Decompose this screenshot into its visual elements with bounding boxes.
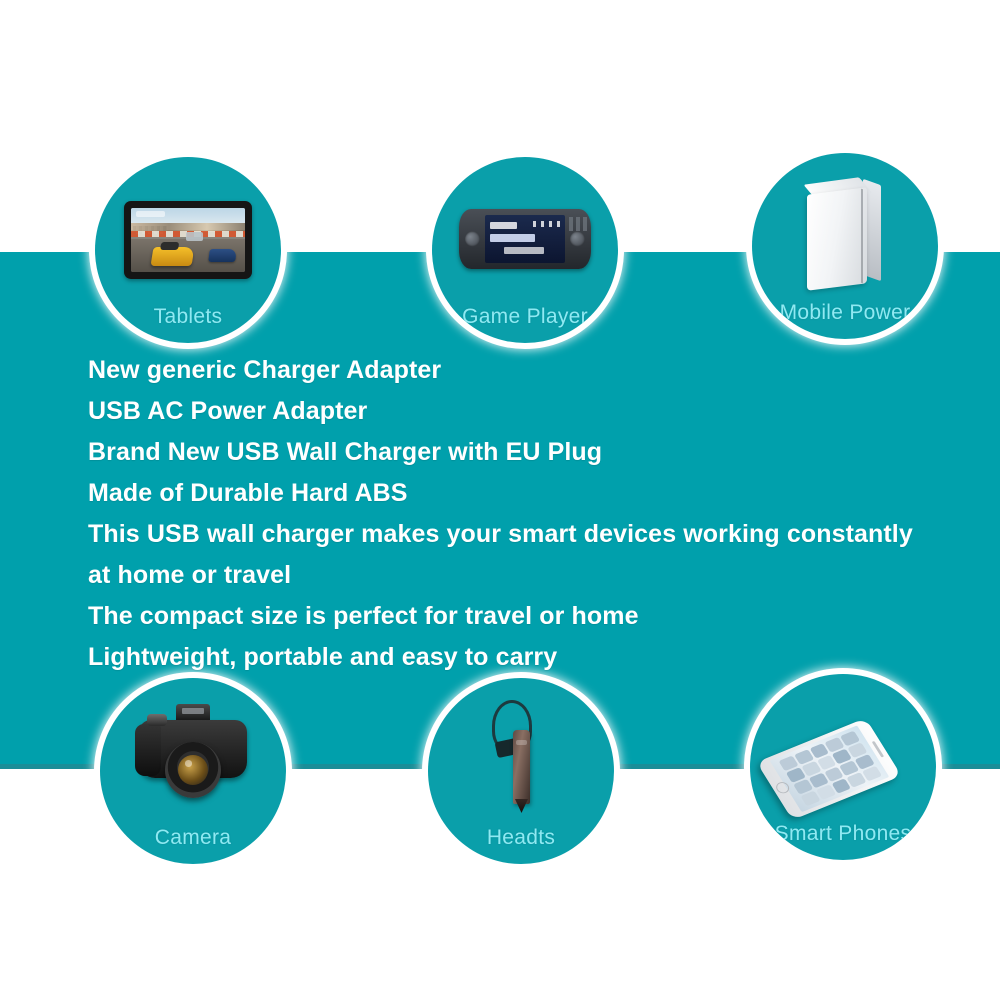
bluetooth-headset-icon [428, 696, 614, 802]
feature-line: Lightweight, portable and easy to carry [88, 637, 938, 678]
category-circle-headsets[interactable]: Headts [428, 678, 614, 864]
category-label-smart-phones: Smart Phones [775, 822, 912, 846]
category-label-game-player: Game Player [462, 305, 588, 329]
category-circle-smart-phones[interactable]: Smart Phones [750, 674, 936, 860]
feature-line: USB AC Power Adapter [88, 391, 938, 432]
feature-line: New generic Charger Adapter [88, 350, 938, 391]
category-circle-camera[interactable]: Camera [100, 678, 286, 864]
infographic-canvas: Tablets Game Player [0, 0, 1000, 1000]
category-label-headsets: Headts [487, 826, 555, 850]
category-circle-mobile-power[interactable]: Mobile Power [752, 153, 938, 339]
feature-line: Made of Durable Hard ABS [88, 473, 938, 514]
handheld-game-console-icon [432, 175, 618, 281]
feature-line: at home or travel [88, 555, 938, 596]
power-bank-icon [752, 171, 938, 277]
feature-line: The compact size is perfect for travel o… [88, 596, 938, 637]
category-label-tablets: Tablets [154, 305, 223, 329]
smartphone-icon [750, 692, 936, 798]
category-label-camera: Camera [155, 826, 232, 850]
category-circle-game-player[interactable]: Game Player [432, 157, 618, 343]
category-circle-tablets[interactable]: Tablets [95, 157, 281, 343]
feature-line: This USB wall charger makes your smart d… [88, 514, 938, 555]
category-label-mobile-power: Mobile Power [780, 301, 911, 325]
tablet-icon [95, 175, 281, 281]
feature-list: New generic Charger Adapter USB AC Power… [88, 350, 938, 678]
feature-line: Brand New USB Wall Charger with EU Plug [88, 432, 938, 473]
dslr-camera-icon [100, 696, 286, 802]
